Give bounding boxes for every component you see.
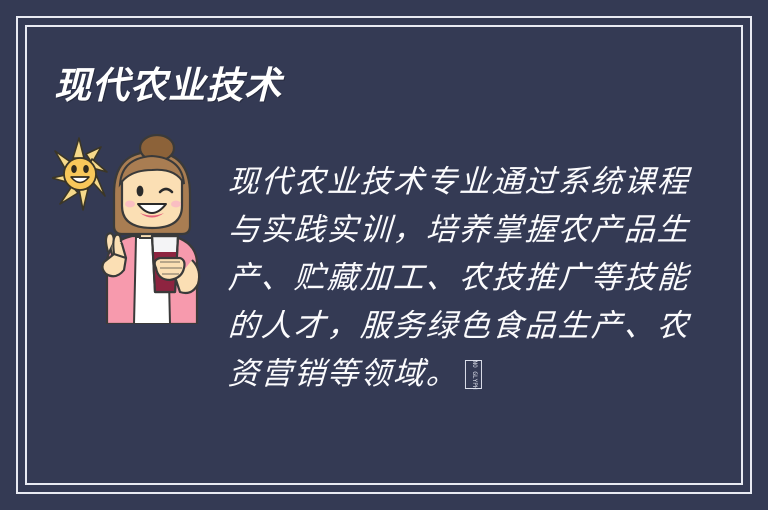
no-glyph-label: NO GLYPH	[471, 360, 477, 389]
smiling-sun-icon	[52, 138, 107, 210]
body-line: 产、贮藏加工、农技推广等技能	[227, 254, 650, 302]
body-line-last: 资营销等领域。 NO GLYPH	[227, 350, 650, 398]
body-copy: 现代农业技术专业通过系统课程 与实践实训，培养掌握农产品生 产、贮藏加工、农技推…	[228, 158, 648, 398]
body-line-text: 资营销等领域。	[227, 350, 461, 398]
body-line: 与实践实训，培养掌握农产品生	[227, 206, 650, 254]
cartoon-girl	[102, 135, 199, 324]
page-title: 现代农业技术	[54, 64, 282, 108]
body-line: 的人才，服务绿色食品生产、农	[227, 302, 650, 350]
poster-root: 现代农业技术	[0, 0, 768, 510]
body-line: 现代农业技术专业通过系统课程	[227, 158, 650, 206]
no-glyph-marker: NO GLYPH	[465, 360, 482, 389]
illustration	[52, 134, 218, 324]
